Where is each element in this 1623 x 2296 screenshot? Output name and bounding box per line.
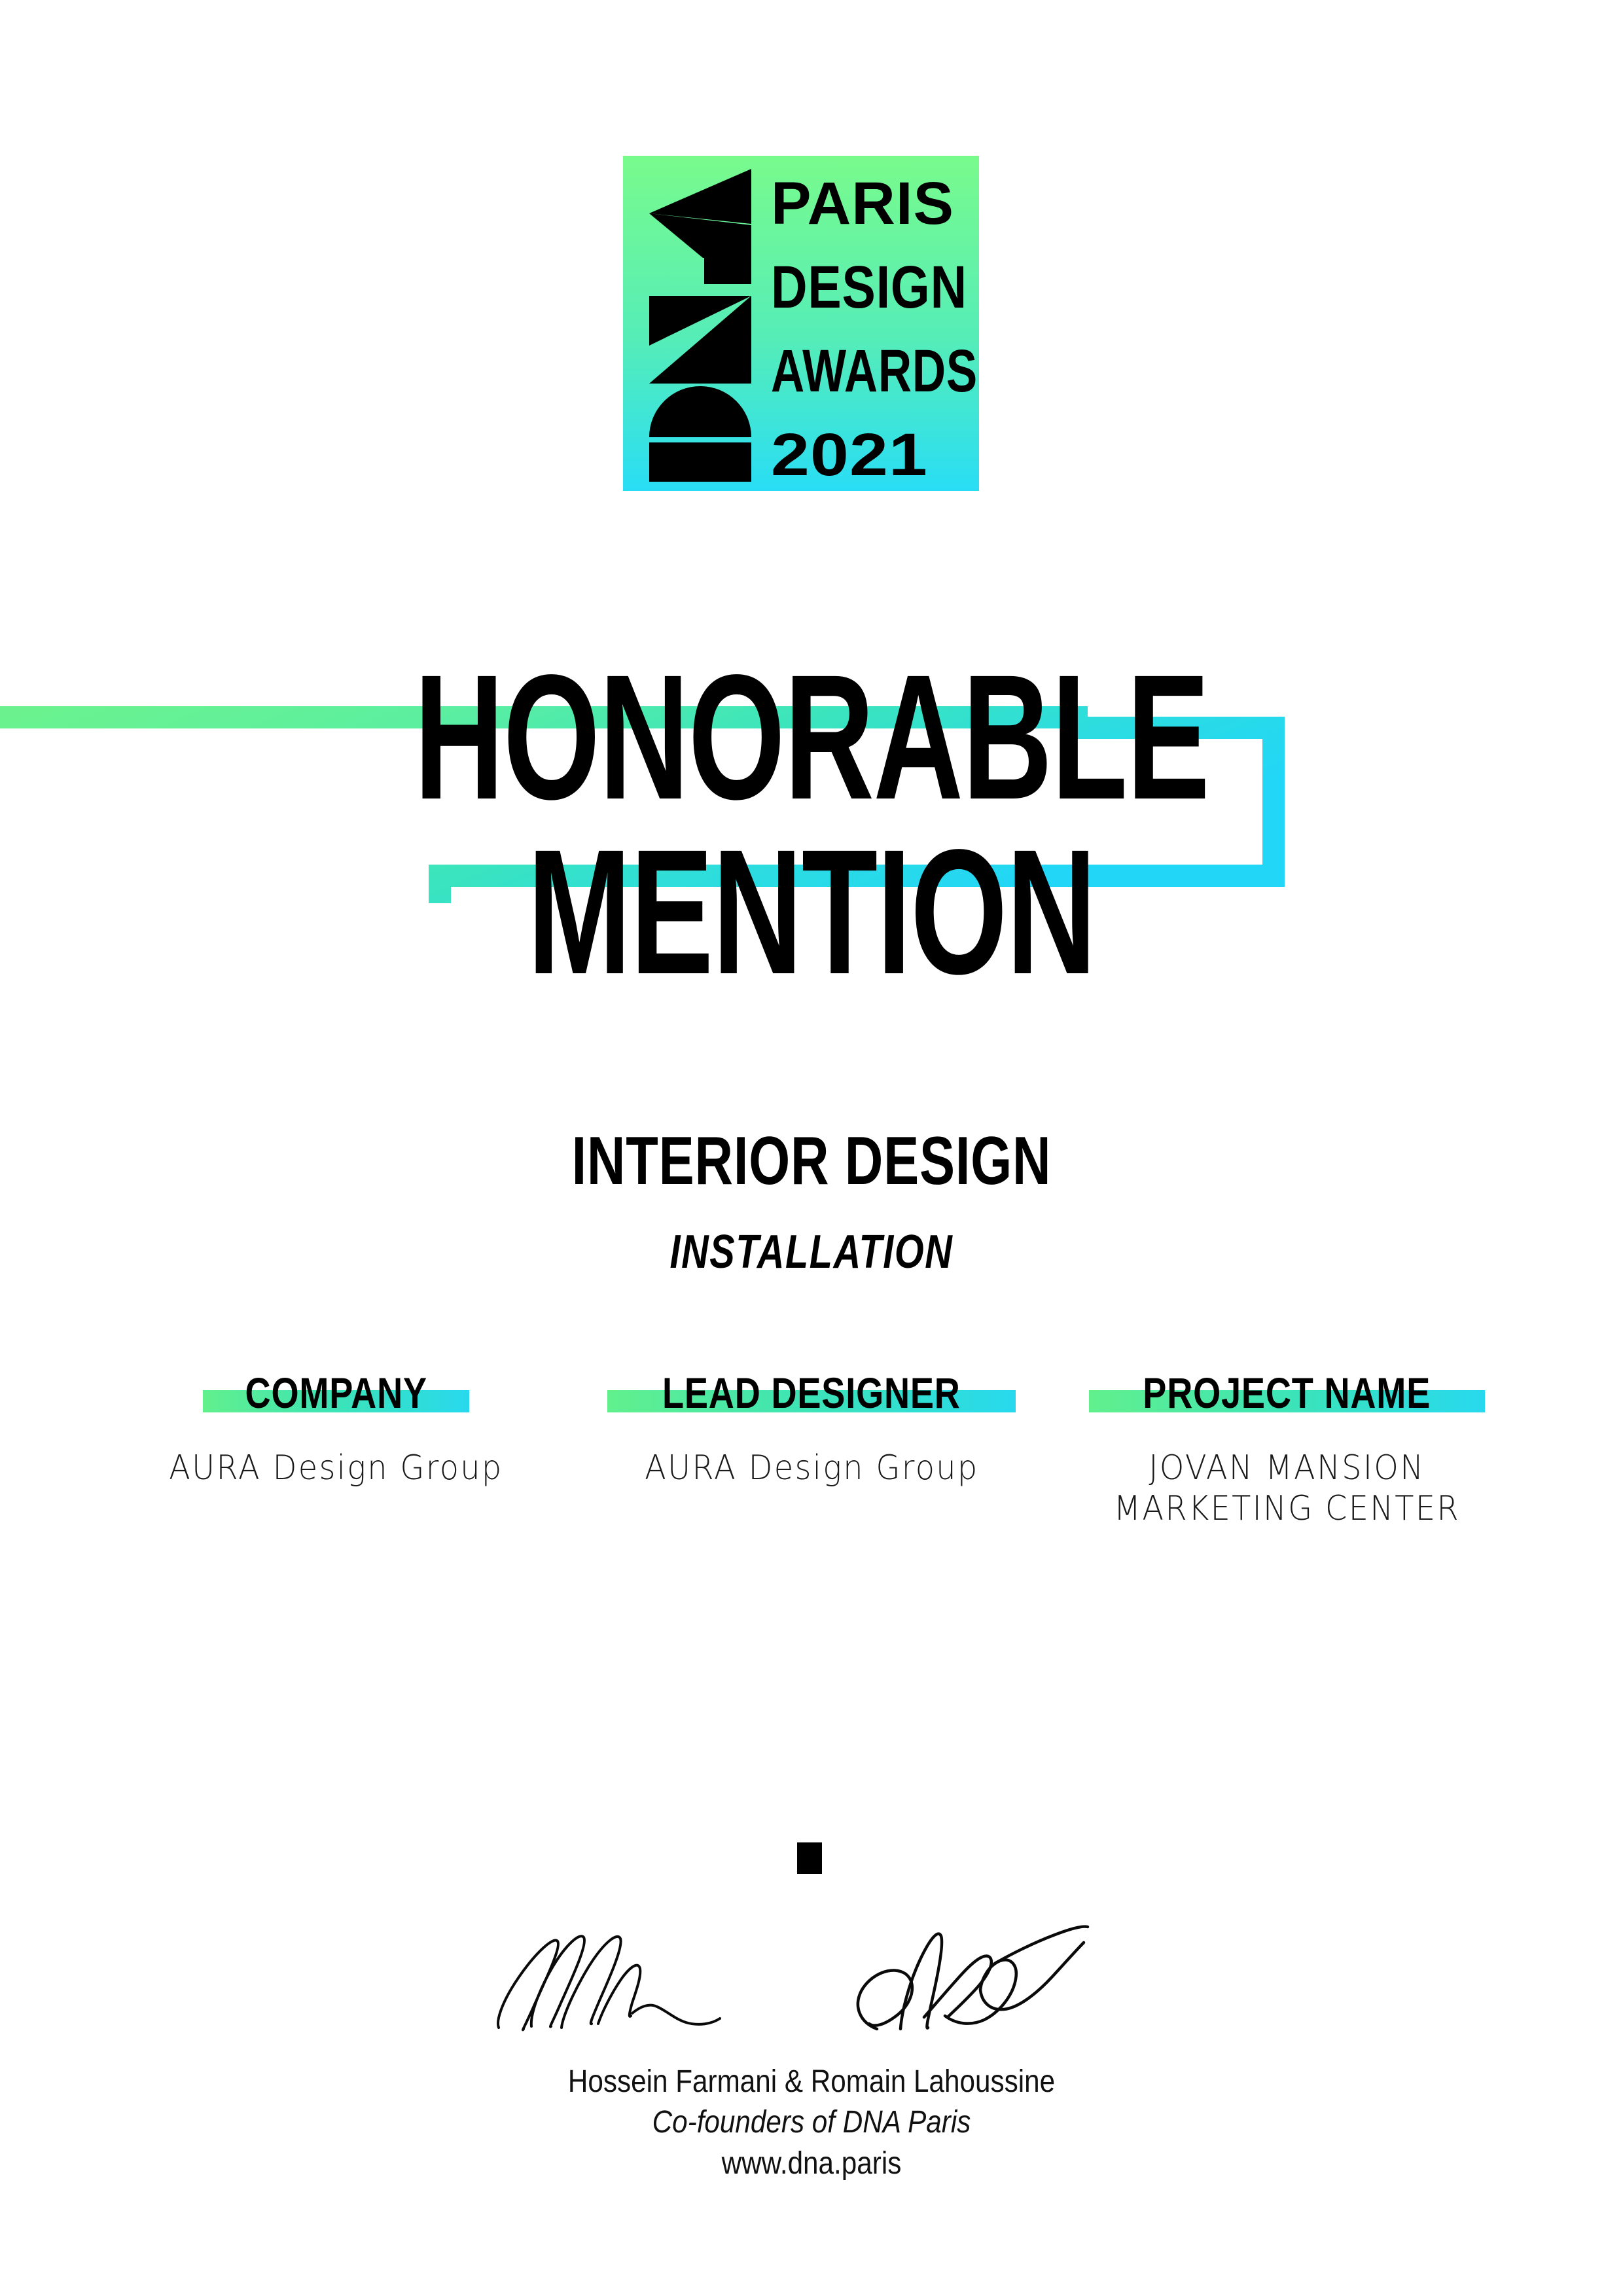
signature-images — [458, 1898, 1178, 2055]
footer-text: Hossein Farmani & Romain Lahoussine Co-f… — [0, 2062, 1623, 2184]
logo-year: 2021 — [771, 422, 928, 488]
credits-row: COMPANY AURA Design Group LEAD DESIGNER … — [98, 1368, 1525, 1530]
credit-header-project-name: PROJECT NAME — [1089, 1368, 1484, 1418]
credit-value-line: MARKETING CENTER — [1068, 1488, 1506, 1529]
credit-value-line: AURA Design Group — [117, 1448, 555, 1488]
category-name: INTERIOR DESIGN — [179, 1122, 1444, 1200]
signature-romain-lahoussine — [858, 1927, 1088, 2030]
credit-value-company: AURA Design Group — [117, 1448, 555, 1488]
credit-column-project-name: PROJECT NAME JOVAN MANSION MARKETING CEN… — [1049, 1368, 1525, 1530]
paris-design-awards-logo: PARIS DESIGN AWARDS 2021 — [623, 156, 979, 491]
subcategory-name: INSTALLATION — [162, 1225, 1461, 1279]
credit-column-lead-designer: LEAD DESIGNER AURA Design Group — [574, 1368, 1050, 1530]
credit-header-label: LEAD DESIGNER — [662, 1368, 961, 1418]
black-square-mark — [797, 1842, 822, 1874]
logo-word-awards: AWARDS — [771, 338, 978, 404]
website-url: www.dna.paris — [98, 2144, 1525, 2184]
credit-value-line: JOVAN MANSION — [1068, 1448, 1506, 1488]
credit-header-lead-designer: LEAD DESIGNER — [607, 1368, 1016, 1418]
award-title-line-2: MENTION — [243, 829, 1380, 995]
credit-header-label: COMPANY — [245, 1368, 427, 1418]
category-block: INTERIOR DESIGN INSTALLATION — [0, 1122, 1623, 1279]
signature-hossein-farmani — [498, 1936, 720, 2030]
signatory-role: Co-founders of DNA Paris — [98, 2102, 1525, 2143]
credit-header-company: COMPANY — [203, 1368, 469, 1418]
signatory-names: Hossein Farmani & Romain Lahoussine — [98, 2062, 1525, 2102]
credit-value-project-name: JOVAN MANSION MARKETING CENTER — [1068, 1448, 1506, 1530]
logo-word-paris: PARIS — [771, 170, 954, 237]
award-title: HONORABLE MENTION — [0, 655, 1623, 995]
credit-value-line: AURA Design Group — [593, 1448, 1031, 1488]
credit-header-label: PROJECT NAME — [1143, 1368, 1431, 1418]
credit-column-company: COMPANY AURA Design Group — [98, 1368, 574, 1530]
logo-word-design: DESIGN — [771, 254, 967, 321]
credit-value-lead-designer: AURA Design Group — [593, 1448, 1031, 1488]
award-title-line-1: HONORABLE — [243, 655, 1380, 820]
